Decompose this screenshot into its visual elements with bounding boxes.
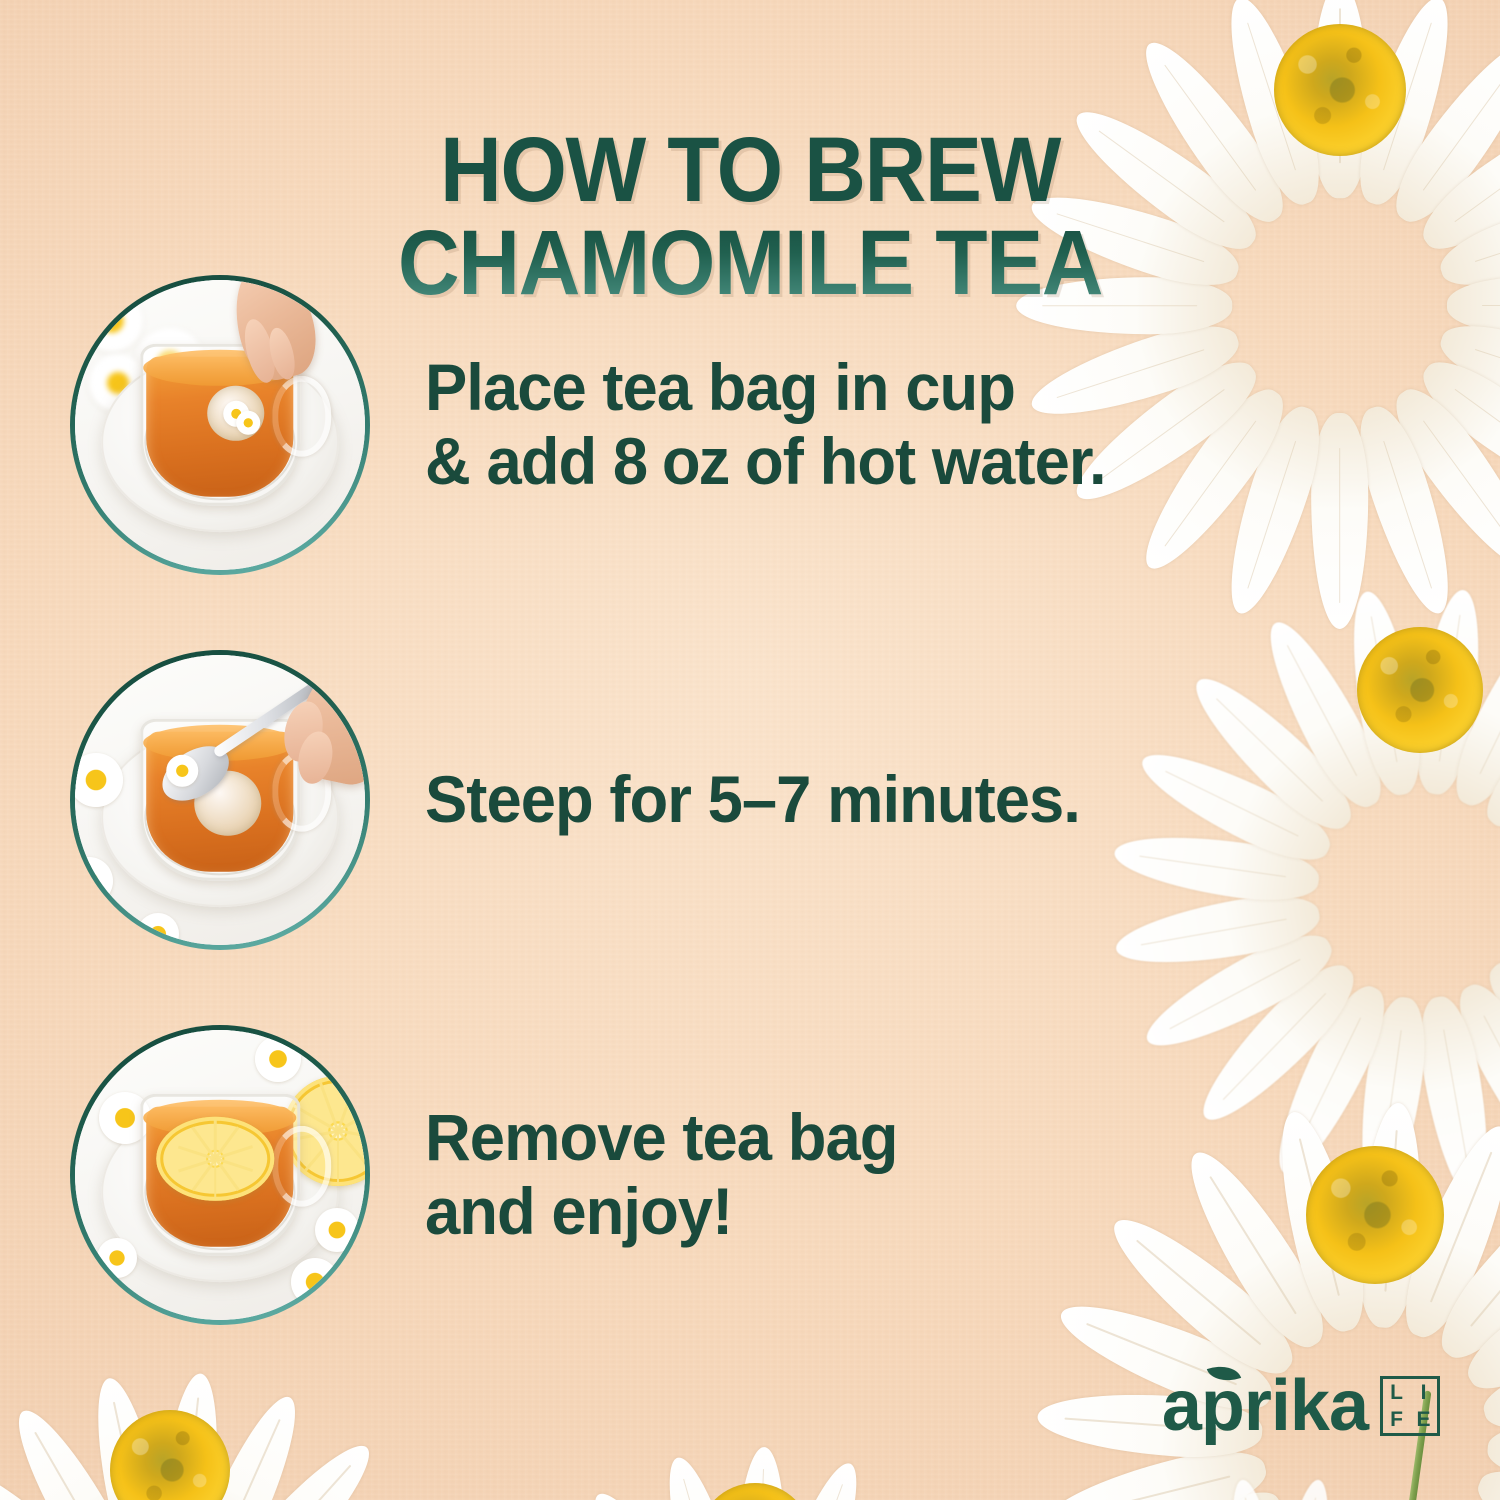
chamomile-flower xyxy=(137,913,179,945)
cup-handle xyxy=(272,376,332,456)
life-letter-l: L xyxy=(1383,1379,1410,1406)
brand-wordmark: aprika xyxy=(1162,1370,1368,1442)
photo-scene xyxy=(75,655,365,945)
life-letter-f: F xyxy=(1383,1406,1410,1433)
chamomile-flower xyxy=(75,857,113,905)
step-2-text-line-1: Steep for 5–7 minutes. xyxy=(425,763,1080,837)
chamomile-in-bag xyxy=(236,410,260,434)
step-3-text-line-1: Remove tea bag xyxy=(425,1101,898,1175)
photo-scene xyxy=(75,1030,365,1320)
step-3-text-line-2: and enjoy! xyxy=(425,1175,898,1249)
step-1-emphasis: 8 oz xyxy=(613,424,729,498)
step-1-image-ring xyxy=(70,275,370,575)
life-letter-e: E xyxy=(1410,1406,1437,1433)
step-item-2: Steep for 5–7 minutes. xyxy=(70,650,1440,950)
step-1-text-line-2: & add 8 oz of hot water. xyxy=(425,425,1106,499)
step-3-image-ring xyxy=(70,1025,370,1325)
teabag-in-cup-photo xyxy=(75,280,365,570)
chamomile-flower xyxy=(255,1036,301,1082)
chamomile-flower xyxy=(291,1258,339,1306)
step-1-text-post: of hot water. xyxy=(728,424,1105,498)
title-line-1: HOW TO BREW xyxy=(53,124,1448,218)
cup-handle xyxy=(272,1126,332,1206)
step-2-image-ring xyxy=(70,650,370,950)
chamomile-on-spoon xyxy=(166,755,198,787)
chamomile-flower xyxy=(315,1208,359,1252)
infographic-canvas: HOW TO BREW CHAMOMILE TEA xyxy=(0,0,1500,1500)
step-1-text: Place tea bag in cup & add 8 oz of hot w… xyxy=(425,351,1106,499)
stirring-tea-photo xyxy=(75,655,365,945)
brand-name: aprika xyxy=(1162,1366,1368,1446)
lemon-slice-in-cup xyxy=(156,1117,274,1201)
glass-cup xyxy=(140,1094,300,1256)
background-daisy xyxy=(81,290,143,352)
step-item-3: Remove tea bag and enjoy! xyxy=(70,1025,1440,1325)
step-1-text-line-1: Place tea bag in cup xyxy=(425,351,1106,425)
hand xyxy=(290,655,365,791)
life-badge: L I F E xyxy=(1380,1376,1440,1436)
tea-with-lemon-photo xyxy=(75,1030,365,1320)
brand-logo: aprika L I F E xyxy=(1162,1370,1440,1442)
photo-scene xyxy=(75,280,365,570)
step-3-text: Remove tea bag and enjoy! xyxy=(425,1101,898,1249)
step-item-1: Place tea bag in cup & add 8 oz of hot w… xyxy=(70,275,1440,575)
step-2-text: Steep for 5–7 minutes. xyxy=(425,763,1080,837)
chamomile-flower xyxy=(97,1238,137,1278)
life-letter-i: I xyxy=(1410,1379,1437,1406)
step-1-text-pre: & add xyxy=(425,424,613,498)
